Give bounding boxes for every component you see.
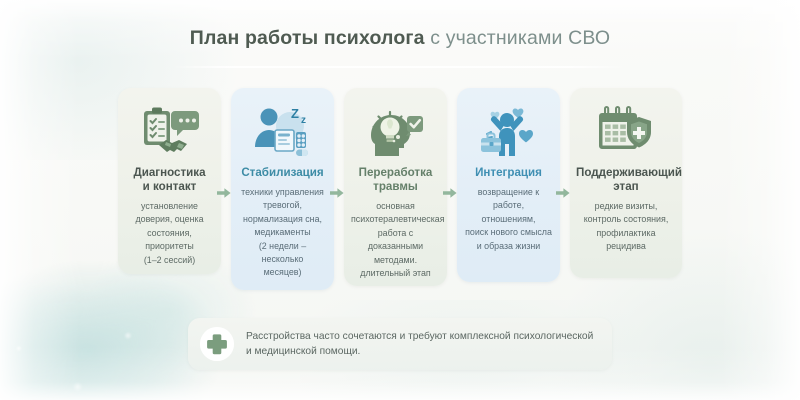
clipboard-checklist-handshake-icon <box>123 102 216 160</box>
stage-card-body: установление доверия, оценка состояния, … <box>123 200 216 267</box>
stage-card-row: Диагностика и контакт установление довер… <box>118 88 688 300</box>
person-arms-up-hearts-briefcase-icon <box>462 102 555 160</box>
stage-card-title: Переработка травмы <box>349 166 442 194</box>
page-title: План работы психолога с участниками СВО <box>0 26 800 50</box>
stage-card-title: Стабилизация <box>236 166 329 180</box>
stage-card-title: Поддерживающий этап <box>575 166 677 194</box>
header: План работы психолога с участниками СВО <box>0 26 800 50</box>
stage-card-trauma-processing[interactable]: Переработка травмы основная психотералев… <box>344 88 447 286</box>
stage-card-title: Интеграция <box>462 166 555 180</box>
footer-note-text: Расстройства часто сочетаются и требуют … <box>246 329 598 360</box>
medical-cross-icon <box>200 327 234 361</box>
stage-card-diagnostics[interactable]: Диагностика и контакт установление довер… <box>118 88 221 274</box>
footer-note-banner: Расстройства часто сочетаются и требуют … <box>188 318 612 370</box>
stage-card-body: возвращение к работе, отношениям, поиск … <box>462 186 555 253</box>
arrow-integration-to-maintenance <box>556 187 570 199</box>
svg-text:z: z <box>301 115 306 126</box>
arrow-trauma-to-integration <box>443 187 457 199</box>
sleeping-person-medication-icon: Z z <box>236 102 329 160</box>
page-title-light: с участниками СВО <box>430 27 610 49</box>
arrow-stabilization-to-trauma <box>330 187 344 199</box>
stage-card-title: Диагностика и контакт <box>123 166 216 194</box>
stage-card-body: техники управления тревогой, нормализаци… <box>236 186 329 280</box>
title-divider <box>172 66 627 68</box>
arrow-diagnostics-to-stabilization <box>217 187 231 199</box>
svg-text:Z: Z <box>291 106 299 121</box>
page-title-strong: План работы психолога <box>190 27 425 49</box>
stage-card-maintenance[interactable]: Поддерживающий этап редкие визиты, контр… <box>570 88 682 278</box>
calendar-shield-plus-icon <box>575 102 677 160</box>
head-lightbulb-check-icon <box>349 102 442 160</box>
stage-card-integration[interactable]: Интеграция возвращение к работе, отношен… <box>457 88 560 282</box>
stage-card-stabilization[interactable]: Z z <box>231 88 334 290</box>
stage-card-body: редкие визиты, контроль состояния, профи… <box>575 200 677 254</box>
infographic-canvas: План работы психолога с участниками СВО <box>0 0 800 400</box>
stage-card-body: основная психотералевтическая работа с д… <box>349 200 442 280</box>
